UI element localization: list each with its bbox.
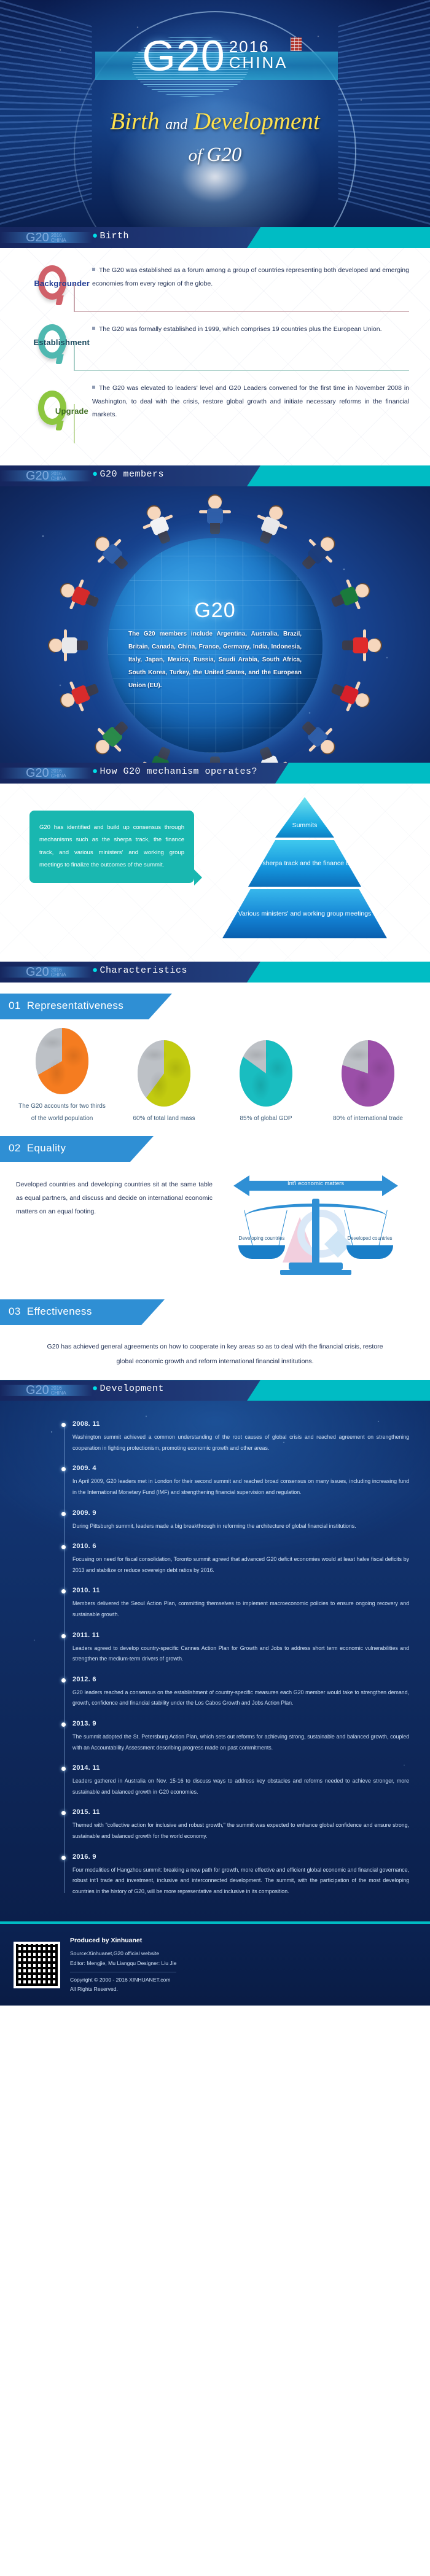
- char-heading-equality: 02Equality: [0, 1136, 160, 1162]
- timeline-date: 2010. 6: [72, 1543, 409, 1550]
- timeline-date: 2008. 11: [72, 1420, 409, 1428]
- timeline-date: 2012. 6: [72, 1676, 409, 1683]
- section-bar-label-development: ●Development: [92, 1383, 164, 1394]
- timeline-bullet-icon: [61, 1634, 66, 1638]
- timeline-bullet-icon: [61, 1767, 66, 1771]
- timeline-item: 2010. 6Focusing on need for fiscal conso…: [72, 1543, 409, 1576]
- timeline-bullet-icon: [61, 1722, 66, 1727]
- stat-cell: 80% of international trade: [322, 1040, 414, 1125]
- char-num-02: 02: [9, 1142, 21, 1154]
- birth-tag-upgrade: Upgrade: [15, 407, 88, 416]
- char-title-02: Equality: [27, 1142, 66, 1154]
- birth-tag-establishment: Establishment: [4, 338, 90, 347]
- timeline-date: 2009. 4: [72, 1465, 409, 1472]
- birth-divider: [74, 311, 409, 312]
- char-title-03: Effectiveness: [27, 1306, 92, 1317]
- timeline-item: 2013. 9The summit adopted the St. Peters…: [72, 1720, 409, 1753]
- footer-rights: All Rights Reserved.: [70, 1985, 176, 1994]
- char-heading-representativeness: 01Representativeness: [0, 994, 430, 1019]
- birth-text-upgrade: The G20 was elevated to leaders' level a…: [92, 382, 430, 422]
- timeline-text: In April 2009, G20 leaders met in London…: [72, 1476, 409, 1498]
- child-figure: [203, 496, 227, 535]
- timeline-text: Leaders agreed to develop country-specif…: [72, 1643, 409, 1665]
- members-section: G20 The G20 members include Argentina, A…: [0, 486, 430, 763]
- timeline-date: 2015. 11: [72, 1808, 409, 1816]
- hero-banner: G20 2016 CHINA Birth and Development of …: [0, 0, 430, 227]
- timeline-date: 2014. 11: [72, 1764, 409, 1772]
- footer-editor: Editor: Mengjie, Mu Liangqu Designer: Li…: [70, 1959, 176, 1969]
- scale-pan-left: [238, 1245, 285, 1259]
- hero-title: Birth and Development of G20: [0, 107, 430, 166]
- globe-stat-icon: [138, 1040, 190, 1107]
- bullet-square-icon: [92, 268, 95, 271]
- birth-text-establishment: The G20 was formally established in 1999…: [92, 323, 430, 337]
- timeline-list: 2008. 11Washington summit achieved a com…: [0, 1420, 430, 1897]
- mini-g20-logo-icon: G20 2016CHINA: [26, 1383, 66, 1398]
- timeline-date: 2010. 11: [72, 1587, 409, 1594]
- birth-section: Backgrounder The G20 was established as …: [0, 248, 430, 465]
- title-of: of: [189, 146, 203, 165]
- characteristics-section: 01Representativeness The G20 accounts fo…: [0, 994, 430, 1380]
- pyramid-level-summits: Summits: [275, 797, 334, 838]
- timeline-text: Themed with "collective action for inclu…: [72, 1820, 409, 1842]
- char-num-01: 01: [9, 1000, 21, 1011]
- timeline-text: The summit adopted the St. Petersburg Ac…: [72, 1732, 409, 1753]
- char-num-03: 03: [9, 1306, 21, 1317]
- pyramid-level-meetings: Various ministers' and working group mee…: [222, 889, 387, 938]
- bullet-dot-icon: ●: [92, 469, 98, 480]
- timeline-item: 2014. 11Leaders gathered in Australia on…: [72, 1764, 409, 1797]
- stat-caption: 85% of global GDP: [220, 1113, 312, 1125]
- timeline-item: 2012. 6G20 leaders reached a consensus o…: [72, 1676, 409, 1709]
- section-bar-development: G20 2016CHINA ●Development: [0, 1380, 430, 1401]
- birth-connector-stub: [74, 284, 75, 312]
- mini-g20-logo-icon: G20 2016CHINA: [26, 965, 66, 979]
- bullet-dot-icon: ●: [92, 965, 98, 976]
- globe-title: G20: [194, 599, 235, 623]
- globe-members-text: The G20 members include Argentina, Austr…: [128, 628, 302, 692]
- footer-divider: [70, 1972, 176, 1972]
- footer-copyright: Copyright © 2000 - 2016 XINHUANET.com: [70, 1975, 176, 1985]
- mechanism-section: G20 has identified and build up consensu…: [0, 784, 430, 962]
- mini-g20-logo-icon: G20 2016CHINA: [26, 469, 66, 483]
- title-birth: Birth: [110, 108, 159, 134]
- footer-source: Source:Xinhuanet,G20 official website: [70, 1949, 176, 1959]
- globe-graphic: G20 The G20 members include Argentina, A…: [107, 538, 322, 753]
- section-bar-mechanism: G20 2016CHINA ●How G20 mechanism operate…: [0, 763, 430, 784]
- stat-cell: The G20 accounts for two thirds of the w…: [16, 1028, 108, 1125]
- timeline-text: Four modalities of Hangzhou summit: brea…: [72, 1865, 409, 1897]
- birth-tag-backgrounder: Backgrounder: [4, 279, 90, 288]
- timeline-bullet-icon: [61, 1856, 66, 1860]
- timeline-bullet-icon: [61, 1467, 66, 1471]
- bullet-dot-icon: ●: [92, 1383, 98, 1394]
- stat-cell: 60% of total land mass: [118, 1040, 210, 1125]
- timeline-item: 2008. 11Washington summit achieved a com…: [72, 1420, 409, 1453]
- timeline-text: Focusing on need for fiscal consolidatio…: [72, 1554, 409, 1576]
- title-development: Development: [193, 108, 320, 134]
- timeline-text: G20 leaders reached a consensus on the e…: [72, 1687, 409, 1709]
- timeline-item: 2011. 11Leaders agreed to develop countr…: [72, 1632, 409, 1665]
- char-heading-effectiveness: 03Effectiveness: [0, 1299, 172, 1325]
- timeline-text: Washington summit achieved a common unde…: [72, 1432, 409, 1453]
- scale-label-developed: Developed countries: [340, 1235, 399, 1241]
- title-g20: G20: [206, 144, 241, 166]
- birth-connector-stub: [74, 404, 75, 443]
- timeline-bullet-icon: [61, 1811, 66, 1815]
- birth-text-backgrounder: The G20 was established as a forum among…: [92, 264, 430, 290]
- section-bar-label-characteristics: ●Characteristics: [92, 965, 187, 976]
- birth-row-establishment: Establishment The G20 was formally estab…: [0, 323, 430, 368]
- logo-country: CHINA: [229, 53, 288, 72]
- timeline-text: Members delivered the Seoul Action Plan,…: [72, 1598, 409, 1620]
- timeline-item: 2015. 11Themed with "collective action f…: [72, 1808, 409, 1842]
- birth-icon-establishment: Establishment: [0, 323, 92, 368]
- equality-text: Developed countries and developing count…: [16, 1172, 213, 1218]
- bullet-square-icon: [92, 386, 95, 389]
- pyramid-diagram: Summits The sherpa track and the finance…: [221, 795, 387, 942]
- child-figure: [342, 633, 381, 658]
- footer-produced-by: Produced by Xinhuanet: [70, 1935, 176, 1947]
- balance-scale-icon: Int'l economic matters Developing countr…: [224, 1172, 408, 1288]
- birth-row-upgrade: Upgrade The G20 was elevated to leaders'…: [0, 382, 430, 441]
- development-section: 2008. 11Washington summit achieved a com…: [0, 1401, 430, 1921]
- child-figure: [49, 633, 88, 658]
- mini-g20-logo-icon: G20 2016CHINA: [26, 766, 66, 780]
- bullet-dot-icon: ●: [92, 231, 98, 241]
- scale-base-foot: [280, 1270, 351, 1275]
- timeline-bullet-icon: [61, 1423, 66, 1427]
- scale-arrow-label: Int'l economic matters: [224, 1180, 408, 1187]
- timeline-bullet-icon: [61, 1512, 66, 1516]
- timeline-text: Leaders gathered in Australia on Nov. 15…: [72, 1776, 409, 1797]
- timeline-bullet-icon: [61, 1545, 66, 1549]
- char-title-01: Representativeness: [27, 1000, 123, 1011]
- timeline-date: 2011. 11: [72, 1632, 409, 1639]
- logo-g20-text: G20: [142, 36, 225, 77]
- g20-logo: G20 2016 CHINA: [0, 36, 430, 77]
- timeline-date: 2009. 9: [72, 1509, 409, 1517]
- globe-stat-icon: [342, 1040, 394, 1107]
- effectiveness-text: G20 has achieved general agreements on h…: [0, 1331, 430, 1369]
- timeline-item: 2009. 9During Pittsburgh summit, leaders…: [72, 1509, 409, 1532]
- timeline-item: 2010. 11Members delivered the Seoul Acti…: [72, 1587, 409, 1620]
- section-bar-birth: G20 2016CHINA ●Birth: [0, 227, 430, 248]
- title-and: and: [165, 117, 187, 133]
- mini-logo-china: CHINA: [51, 238, 66, 243]
- timeline-bullet-icon: [61, 1678, 66, 1683]
- scale-pan-right: [346, 1245, 393, 1259]
- qr-code[interactable]: [14, 1942, 60, 1988]
- birth-icon-upgrade: Upgrade: [0, 382, 92, 441]
- stat-caption: The G20 accounts for two thirds of the w…: [16, 1100, 108, 1125]
- section-bar-label-birth: ●Birth: [92, 231, 129, 241]
- stat-caption: 60% of total land mass: [118, 1113, 210, 1125]
- globe-stat-icon: [36, 1028, 88, 1094]
- birth-row-backgrounder: Backgrounder The G20 was established as …: [0, 264, 430, 309]
- bullet-dot-icon: ●: [92, 766, 98, 777]
- equality-block: Developed countries and developing count…: [0, 1168, 430, 1288]
- timeline-text: During Pittsburgh summit, leaders made a…: [72, 1521, 409, 1532]
- mini-g20-logo-icon: G20 2016CHINA: [26, 231, 66, 245]
- scale-post: [312, 1199, 319, 1264]
- birth-divider: [74, 370, 409, 371]
- infographic-page: G20 2016 CHINA Birth and Development of …: [0, 0, 430, 2006]
- section-bar-label-mechanism: ●How G20 mechanism operates?: [92, 766, 257, 777]
- mechanism-callout: G20 has identified and build up consensu…: [29, 811, 194, 883]
- section-bar-members: G20 2016CHINA ●G20 members: [0, 465, 430, 486]
- timeline-item: 2009. 4In April 2009, G20 leaders met in…: [72, 1465, 409, 1498]
- representativeness-globes: The G20 accounts for two thirds of the w…: [0, 1025, 430, 1125]
- logo-year: 2016: [229, 37, 270, 56]
- chinese-seal-icon: [291, 37, 302, 51]
- footer: Produced by Xinhuanet Source:Xinhuanet,G…: [0, 1924, 430, 2006]
- globe-stat-icon: [240, 1040, 292, 1107]
- birth-icon-backgrounder: Backgrounder: [0, 264, 92, 309]
- scale-label-developing: Developing countries: [232, 1235, 291, 1241]
- timeline-bullet-icon: [61, 1589, 66, 1593]
- timeline-date: 2016. 9: [72, 1853, 409, 1861]
- stat-cell: 85% of global GDP: [220, 1040, 312, 1125]
- bullet-square-icon: [92, 327, 95, 330]
- pyramid-level-tracks: The sherpa track and the finance track: [248, 840, 361, 887]
- stat-caption: 80% of international trade: [322, 1113, 414, 1125]
- child-figure: [203, 756, 227, 763]
- birth-connector-stub: [74, 343, 75, 371]
- mini-logo-g20: G20: [26, 231, 49, 245]
- scale-base: [289, 1263, 343, 1270]
- section-bar-label-members: ●G20 members: [92, 469, 164, 480]
- timeline-item: 2016. 9Four modalities of Hangzhou summi…: [72, 1853, 409, 1897]
- section-bar-characteristics: G20 2016CHINA ●Characteristics: [0, 962, 430, 983]
- footer-credits: Produced by Xinhuanet Source:Xinhuanet,G…: [70, 1935, 176, 1994]
- timeline-date: 2013. 9: [72, 1720, 409, 1727]
